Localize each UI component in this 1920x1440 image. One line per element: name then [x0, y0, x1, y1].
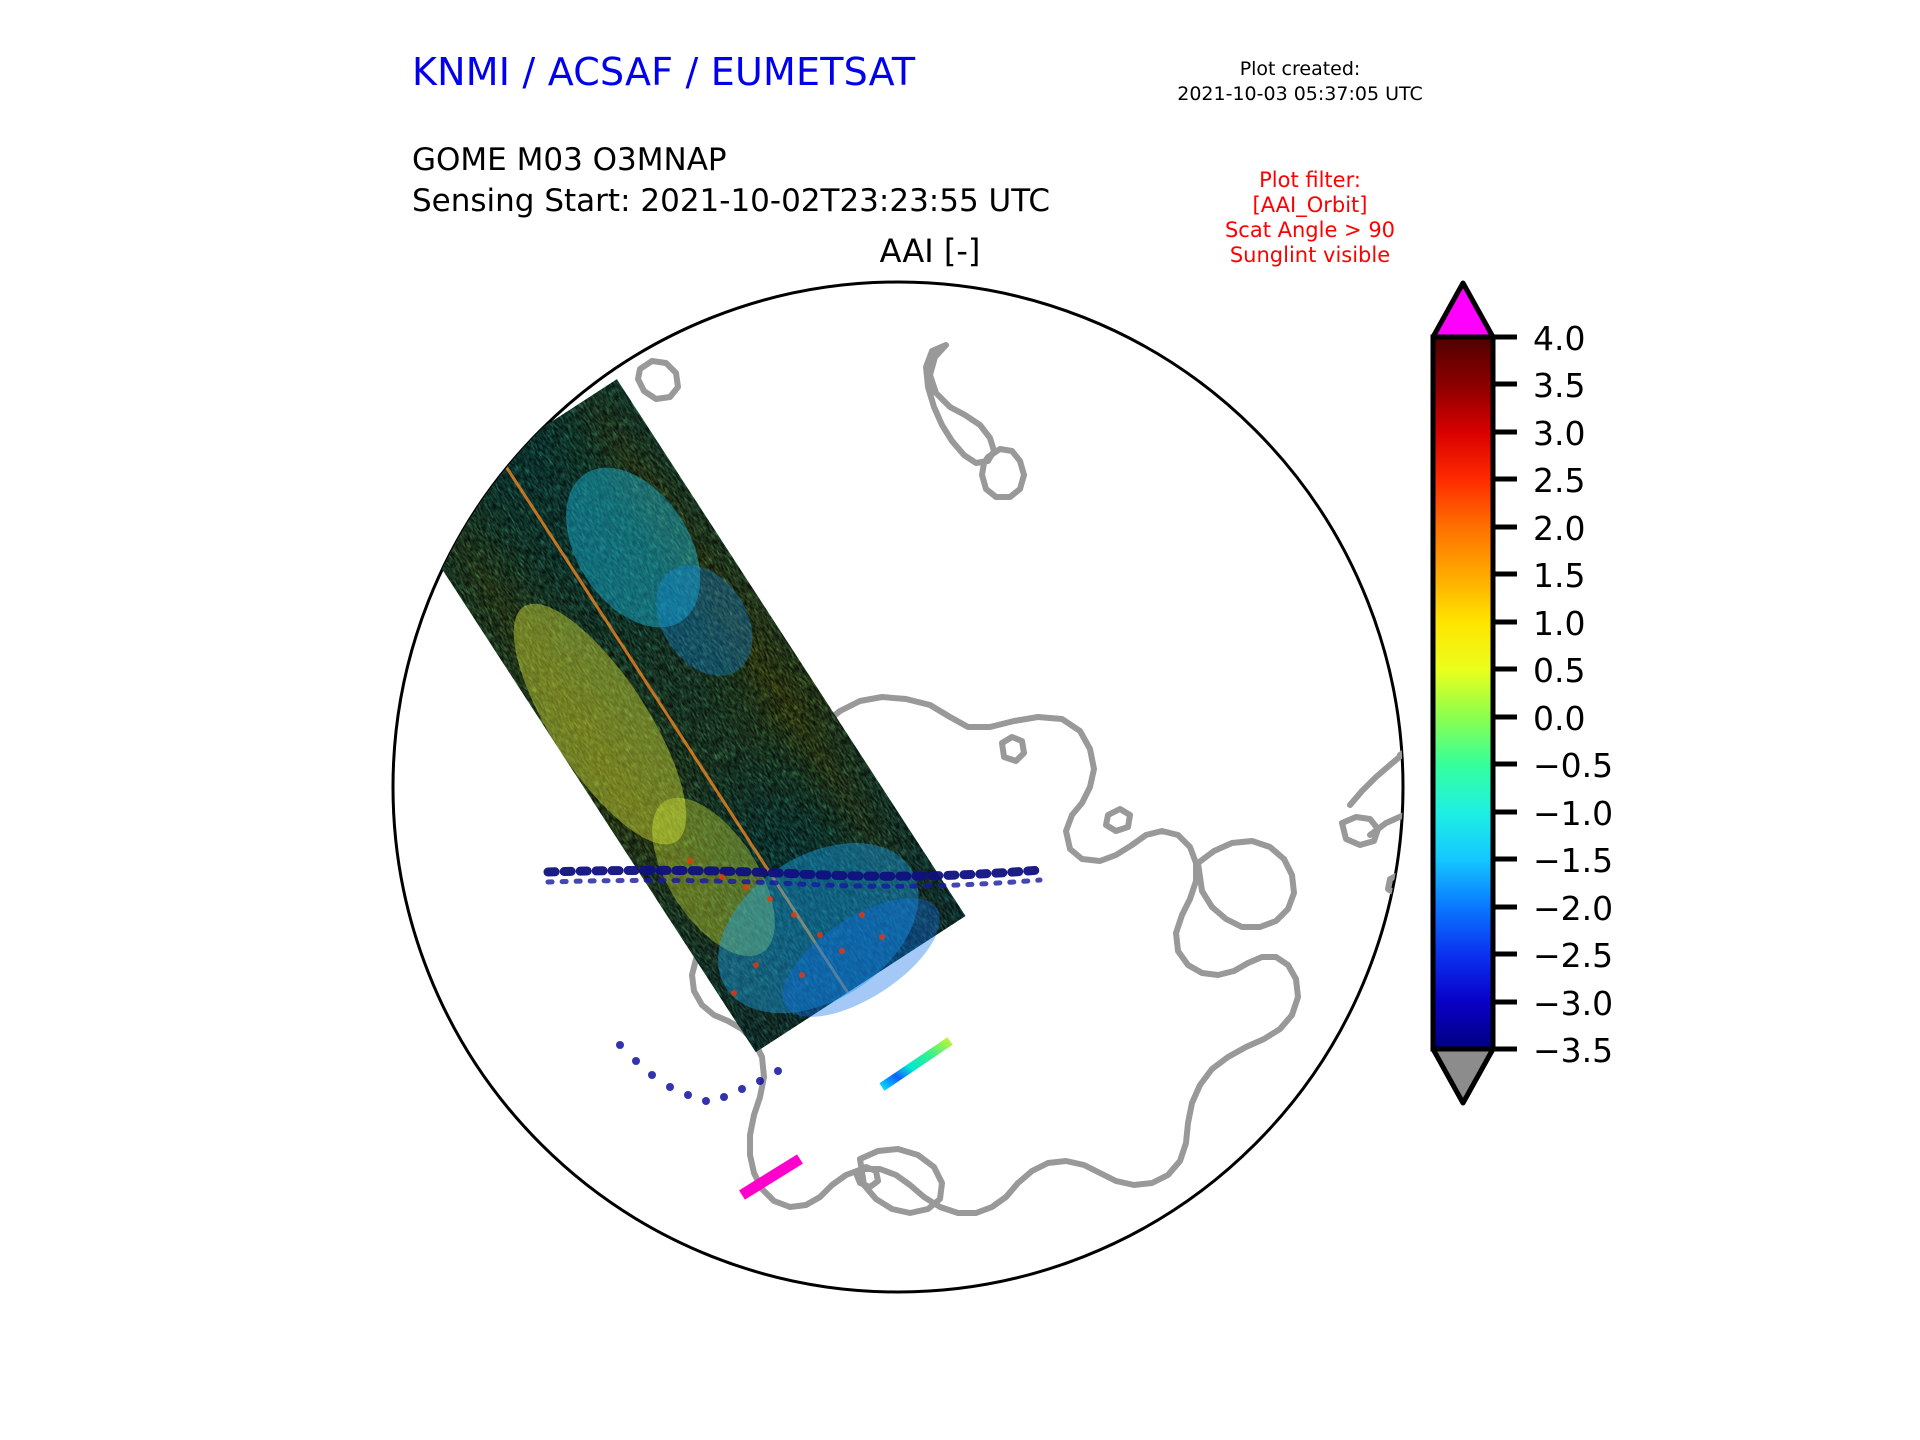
plot-filter-block: Plot filter: [AAI_Orbit] Scat Angle > 90…	[1180, 168, 1440, 268]
colorbar-tick-label: 1.0	[1533, 604, 1585, 643]
coastline-falklands	[1388, 873, 1412, 895]
product-info-block: GOME M03 O3MNAP Sensing Start: 2021-10-0…	[412, 140, 1050, 222]
page-title: AAI [-]	[760, 232, 1100, 270]
colorbar-tick-label: −2.5	[1533, 936, 1613, 975]
colorbar-gradient	[1433, 337, 1493, 1049]
sensing-start-line: Sensing Start: 2021-10-02T23:23:55 UTC	[412, 181, 1050, 222]
filter-line-2: Scat Angle > 90	[1180, 218, 1440, 243]
colorbar-tick-label: 4.0	[1533, 319, 1585, 358]
plot-canvas: KNMI / ACSAF / EUMETSAT Plot created: 20…	[0, 0, 1920, 1440]
plot-created-label: Plot created:	[1160, 57, 1440, 82]
instrument-line: GOME M03 O3MNAP	[412, 140, 1050, 181]
colorbar-tick-label: 2.5	[1533, 461, 1585, 500]
colorbar-over-arrow	[1433, 283, 1493, 337]
colorbar-tick-label: −3.5	[1533, 1031, 1613, 1070]
colorbar-under-arrow	[1433, 1049, 1493, 1103]
filter-line-3: Sunglint visible	[1180, 243, 1440, 268]
colorbar-tick-labels: 4.0 3.5 3.0 2.5 2.0 1.5 1.0 0.5 0.0 −0.5…	[1533, 319, 1613, 1070]
plot-created-value: 2021-10-03 05:37:05 UTC	[1160, 82, 1440, 107]
map-plot-area	[390, 275, 1430, 1315]
colorbar-tick-label: 3.0	[1533, 414, 1585, 453]
colorbar-tick-label: −2.0	[1533, 889, 1613, 928]
coastline-island-bouvet	[480, 1279, 502, 1299]
colorbar-tick-label: 1.5	[1533, 556, 1585, 595]
colorbar-tick-label: −1.5	[1533, 841, 1613, 880]
filter-line-0: Plot filter:	[1180, 168, 1440, 193]
colorbar-tick-label: 3.5	[1533, 366, 1585, 405]
organisation-title: KNMI / ACSAF / EUMETSAT	[412, 50, 915, 94]
colorbar-ticks	[1493, 337, 1517, 1049]
plot-created-block: Plot created: 2021-10-03 05:37:05 UTC	[1160, 57, 1440, 107]
colorbar-tick-label: 2.0	[1533, 509, 1585, 548]
colorbar-tick-label: 0.5	[1533, 651, 1585, 690]
colorbar-tick-label: −0.5	[1533, 746, 1613, 785]
colorbar-tick-label: −1.0	[1533, 794, 1613, 833]
colorbar-tick-label: −3.0	[1533, 984, 1613, 1023]
colorbar-tick-label: 0.0	[1533, 699, 1585, 738]
colorbar: 4.0 3.5 3.0 2.5 2.0 1.5 1.0 0.5 0.0 −0.5…	[1425, 275, 1715, 1335]
filter-line-1: [AAI_Orbit]	[1180, 193, 1440, 218]
